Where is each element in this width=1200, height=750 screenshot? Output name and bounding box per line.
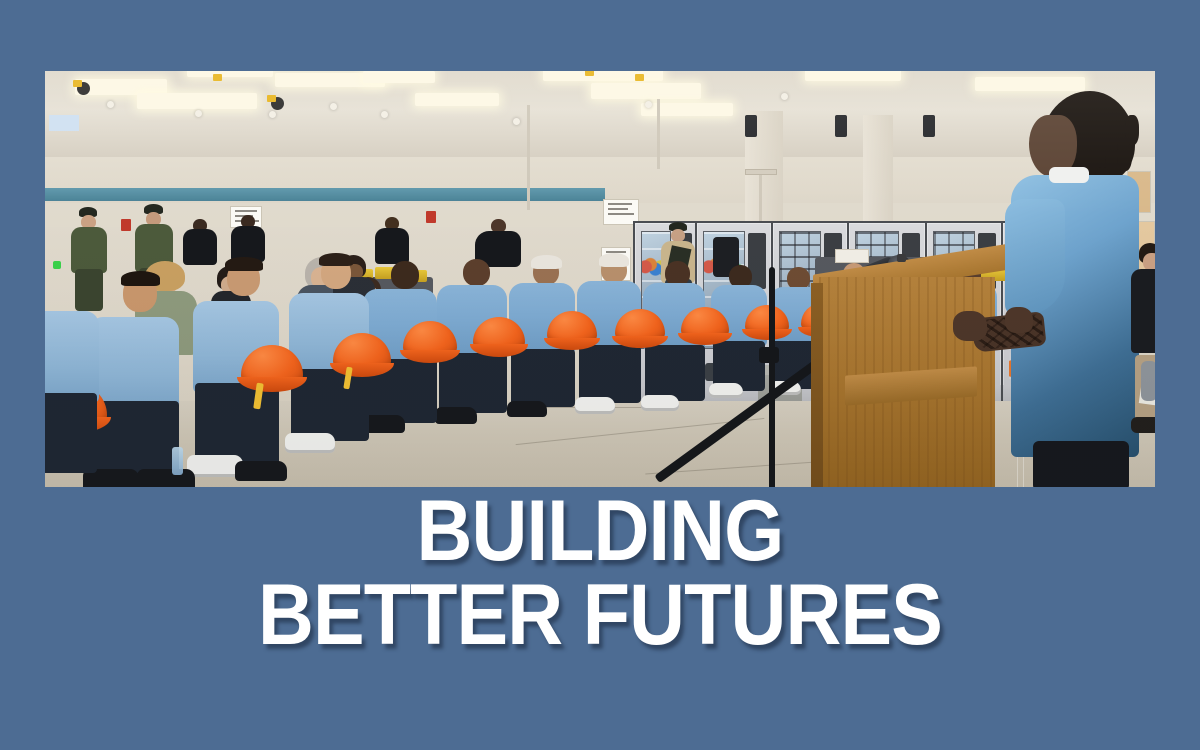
wall-conduit xyxy=(759,171,762,223)
hair xyxy=(319,253,353,266)
title-line-2: BETTER FUTURES xyxy=(60,579,1140,653)
ceiling-light xyxy=(543,71,663,81)
wall-junction-box xyxy=(745,169,777,175)
head-covering xyxy=(599,253,629,267)
ceiling-light xyxy=(363,71,435,83)
camera-mount xyxy=(585,71,594,76)
ceiling-sprinkler xyxy=(513,118,520,125)
ceiling-sprinkler xyxy=(195,110,202,117)
wall-conduit xyxy=(657,99,660,169)
water-bottle xyxy=(172,447,183,475)
wall-conduit xyxy=(527,105,530,210)
head-covering xyxy=(531,255,562,269)
indicator-light xyxy=(53,261,61,269)
collar xyxy=(1049,167,1089,183)
ceiling-sprinkler xyxy=(781,93,788,100)
ceiling-sprinkler xyxy=(381,111,388,118)
ceiling-light xyxy=(805,71,901,81)
ceiling-sprinkler xyxy=(107,101,114,108)
supply-box xyxy=(835,249,869,263)
banner-root: BUILDING BETTER FUTURES xyxy=(0,0,1200,750)
banner-title: BUILDING BETTER FUTURES xyxy=(0,495,1200,653)
exit-sign xyxy=(426,211,436,223)
title-line-1: BUILDING xyxy=(60,495,1140,569)
ceiling-sprinkler xyxy=(645,101,652,108)
podium-fitting xyxy=(897,254,906,262)
camera-mount xyxy=(635,74,644,81)
camera-mount xyxy=(73,80,82,87)
microphone-stand-pole xyxy=(769,267,775,487)
ceiling-sprinkler xyxy=(330,103,337,110)
teal-wall-stripe xyxy=(45,188,605,201)
hair xyxy=(225,257,263,271)
camera-mount xyxy=(213,74,222,81)
ceiling-light xyxy=(187,71,273,77)
wall-speaker xyxy=(835,115,847,137)
event-photo xyxy=(45,71,1155,487)
wall-speaker xyxy=(745,115,757,137)
boom-clamp xyxy=(759,347,779,363)
podium-side xyxy=(811,283,823,487)
ceiling-light xyxy=(975,77,1085,91)
hair xyxy=(121,271,160,286)
exit-sign xyxy=(121,219,131,231)
ceiling-light xyxy=(641,103,733,116)
ceiling-light xyxy=(137,93,257,109)
camera-mount xyxy=(267,95,276,102)
ceiling-sprinkler xyxy=(269,111,276,118)
wall-speaker xyxy=(923,115,935,137)
ceiling-light xyxy=(415,93,499,106)
ceiling-light xyxy=(591,83,701,99)
